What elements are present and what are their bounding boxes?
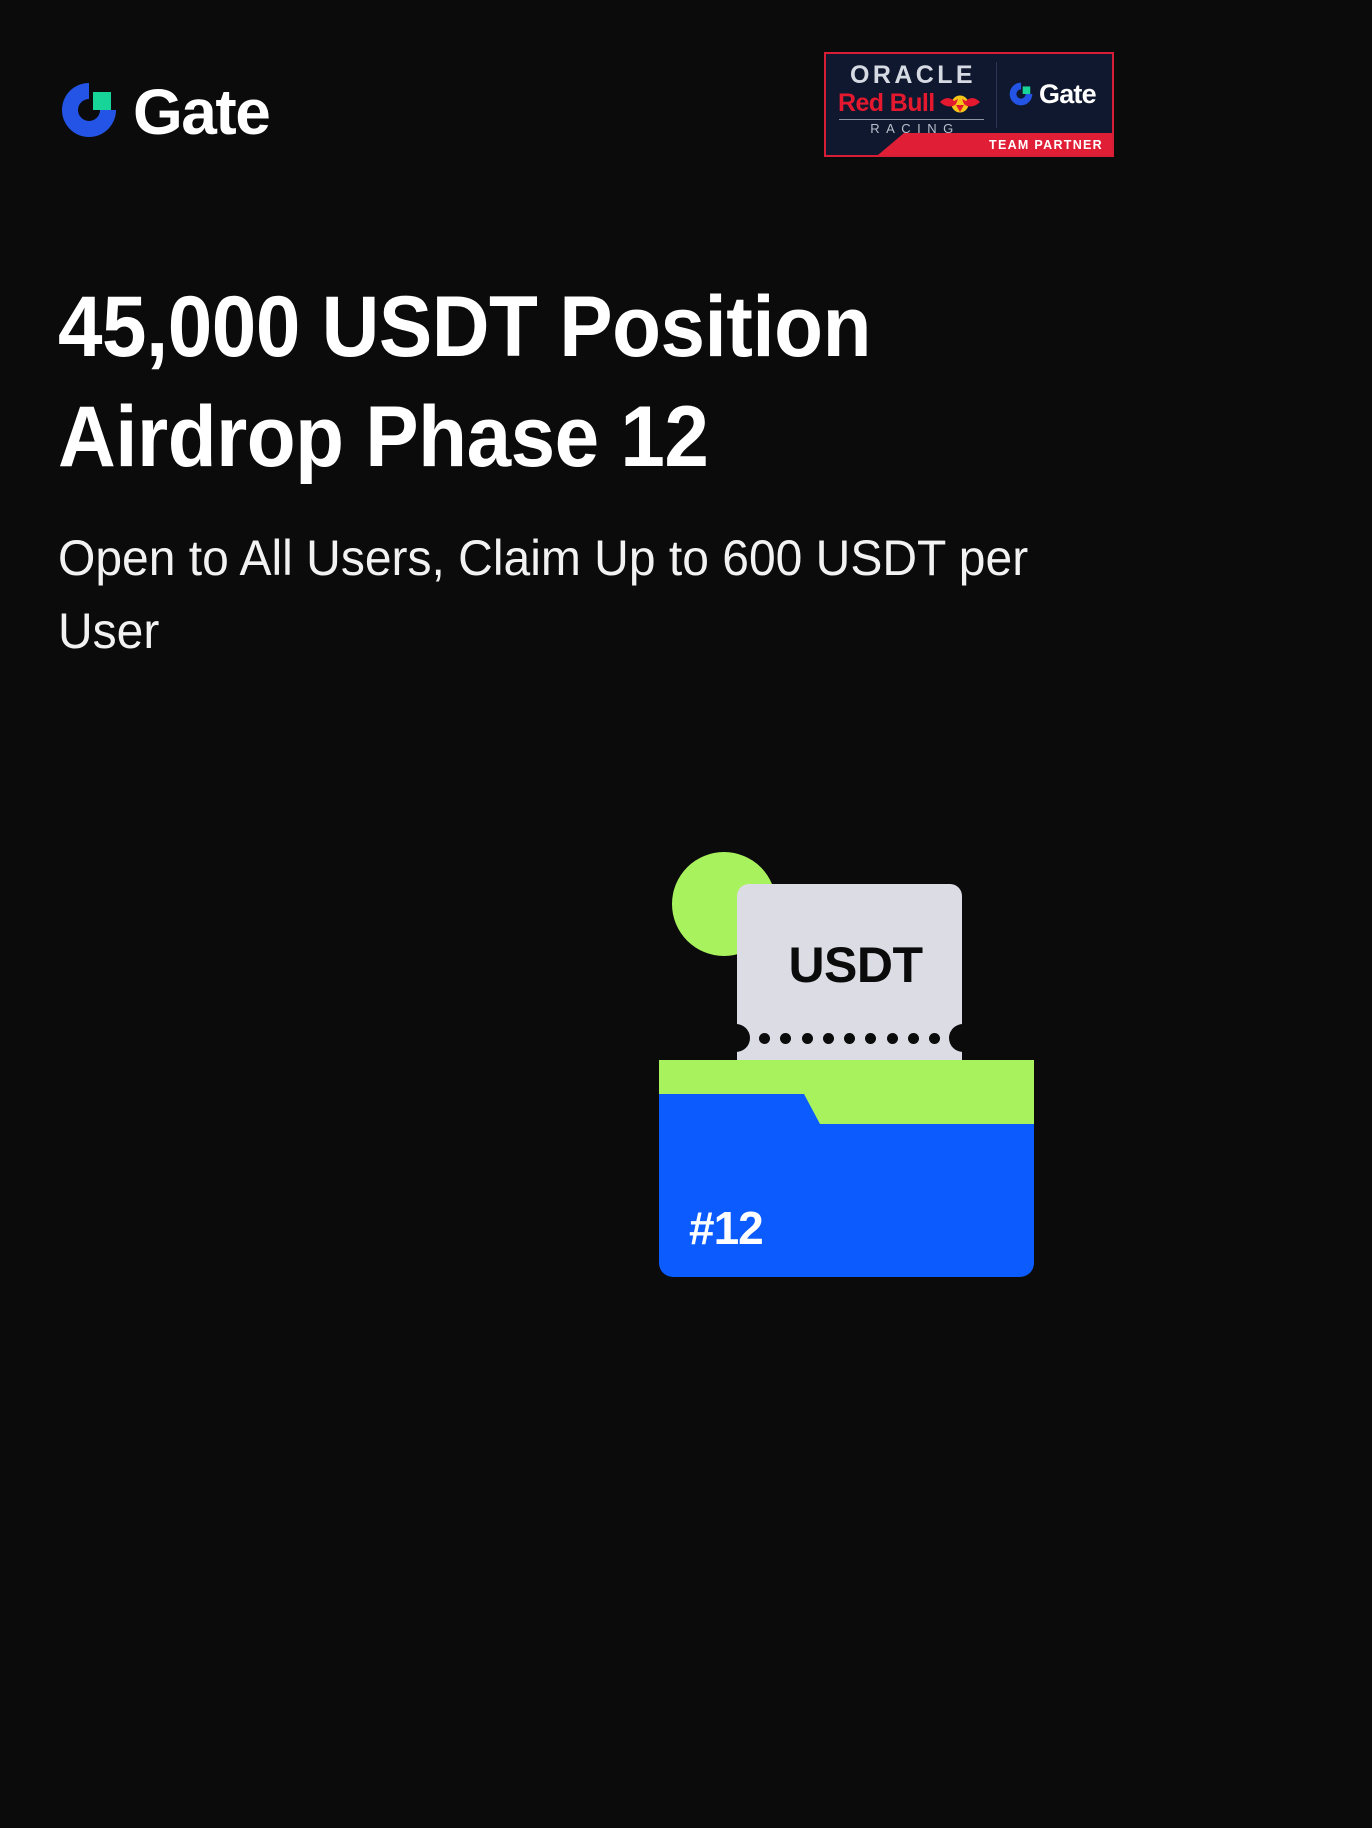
ticket-notch-left	[736, 1024, 750, 1052]
dotted-perforation-icon	[759, 1033, 940, 1044]
red-bull-racing-lockup: ORACLE Red Bull RACING	[826, 54, 988, 135]
team-partner-label: TEAM PARTNER	[989, 139, 1103, 152]
airdrop-illustration: USDT #12	[659, 852, 1034, 1277]
hero-copy: 45,000 USDT Position Airdrop Phase 12 Op…	[58, 272, 1108, 667]
page-subtitle: Open to All Users, Claim Up to 600 USDT …	[58, 522, 1076, 667]
gate-logo-icon	[58, 79, 120, 141]
team-partner-badge: ORACLE Red Bull RACING	[824, 52, 1114, 157]
page-title: 45,000 USDT Position Airdrop Phase 12	[58, 272, 876, 492]
badge-divider-rule	[839, 119, 984, 120]
red-bull-team-label: Red Bull	[838, 91, 935, 116]
brand-wordmark: Gate	[133, 80, 269, 144]
partner-brand-lockup: Gate	[1008, 80, 1096, 107]
badge-vertical-divider	[996, 62, 997, 128]
ticket-notch-right	[949, 1024, 963, 1052]
red-bull-icon	[938, 93, 982, 115]
brand-logo[interactable]: Gate	[58, 78, 269, 142]
gate-logo-icon	[1008, 81, 1034, 107]
phase-number-tag: #12	[689, 1205, 763, 1251]
page-header: Gate ORACLE Red Bull	[0, 0, 1372, 210]
oracle-sponsor-label: ORACLE	[836, 63, 988, 88]
ticket-currency-label: USDT	[737, 940, 962, 990]
partner-wordmark: Gate	[1039, 81, 1096, 108]
